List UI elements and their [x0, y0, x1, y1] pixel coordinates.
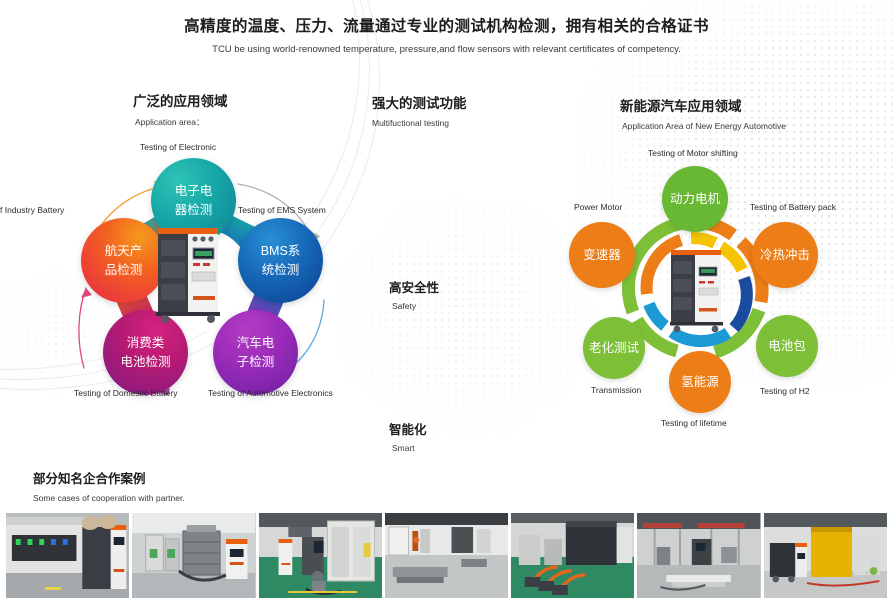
- case-photo-6[interactable]: [637, 513, 760, 598]
- feature-caption-smart-en: Smart: [392, 443, 427, 453]
- feature-caption-safety: 高安全性 Safety: [389, 277, 439, 311]
- bubble-battery-pack[interactable]: 电池包: [756, 315, 818, 377]
- application-area-flower-diagram: 电子电 器检测 航天产 品检测 BMS系 统检测 消费类 电池检测 汽车电 子检…: [78, 160, 328, 395]
- caption-testing-of-motor-shifting: Testing of Motor shifting: [648, 148, 738, 158]
- bubble-automotive-electronics-line2: 子检测: [237, 353, 275, 371]
- tcu-machine-photo-left: [154, 218, 226, 324]
- new-energy-automotive-ring-diagram: 动力电机 变速器 冷热冲击 老化测试 氢能源 电池包 Testing of Mo…: [565, 160, 885, 420]
- bubble-hydrogen-energy-label: 氢能源: [681, 373, 719, 391]
- bubble-automotive-electronics-line1: 汽车电: [237, 334, 275, 352]
- bubble-transmission-label: 变速器: [583, 246, 621, 264]
- feature-caption-safety-en: Safety: [392, 301, 439, 311]
- feature-caption-smart: 智能化 Smart: [389, 419, 427, 453]
- bubble-bms-line1: BMS系: [261, 242, 301, 260]
- bubble-bms-line2: 统检测: [262, 261, 300, 279]
- case-photo-7[interactable]: [764, 513, 887, 598]
- section-title-partner-cases: 部分知名企合作案例 Some cases of cooperation with…: [33, 468, 185, 503]
- caption-transmission: Transmission: [591, 385, 641, 395]
- bubble-battery-pack-label: 电池包: [768, 337, 806, 355]
- poster-root: 高精度的温度、压力、流量通过专业的测试机构检测，拥有相关的合格证书 TCU be…: [0, 0, 893, 602]
- caption-testing-of-battery-pack: Testing of Battery pack: [750, 202, 836, 212]
- section-title-new-energy-cn: 新能源汽车应用领域: [620, 95, 786, 115]
- section-title-partner-cases-en: Some cases of cooperation with partner.: [33, 493, 185, 503]
- partner-case-photo-strip: [6, 513, 887, 598]
- bubble-aerospace-line2: 品检测: [105, 261, 143, 279]
- case-photo-5[interactable]: [511, 513, 634, 598]
- case-photo-1[interactable]: [6, 513, 129, 598]
- bubble-bms[interactable]: BMS系 统检测: [238, 218, 323, 303]
- bubble-automotive-electronics[interactable]: 汽车电 子检测: [213, 310, 298, 395]
- section-title-new-energy-en: Application Area of New Energy Automotiv…: [622, 121, 786, 131]
- bubble-electronic-line1: 电子电: [175, 182, 213, 200]
- bubble-domestic-battery-line2: 电池检测: [120, 353, 170, 371]
- bubble-hydrogen-energy[interactable]: 氢能源: [669, 351, 731, 413]
- caption-testing-of-electronic: Testing of Electronic: [140, 142, 216, 152]
- caption-testing-of-h2: Testing of H2: [760, 386, 810, 396]
- bubble-electronic-line2: 器检测: [175, 201, 213, 219]
- caption-testing-of-domestic-battery: Testing of Domestic Battery: [74, 388, 177, 398]
- headline-english: TCU be using world-renowned temperature,…: [0, 43, 893, 57]
- case-photo-3[interactable]: [259, 513, 382, 598]
- bubble-aging-test[interactable]: 老化测试: [583, 317, 645, 379]
- bubble-aging-test-label: 老化测试: [589, 339, 639, 357]
- headline-chinese: 高精度的温度、压力、流量通过专业的测试机构检测，拥有相关的合格证书: [0, 16, 893, 38]
- section-title-multifunctional-en: Multifuctional testing: [372, 118, 467, 128]
- case-photo-4[interactable]: [385, 513, 508, 598]
- caption-power-motor: Power Motor: [574, 202, 622, 212]
- caption-testing-of-industry-battery: Testing of Industry Battery: [0, 205, 64, 215]
- section-title-application-area-en: Application area：: [135, 116, 228, 128]
- bubble-domestic-battery-line1: 消费类: [127, 334, 165, 352]
- feature-caption-safety-cn: 高安全性: [389, 277, 439, 296]
- section-title-new-energy: 新能源汽车应用领域 Application Area of New Energy…: [620, 95, 786, 131]
- bubble-transmission[interactable]: 变速器: [569, 222, 635, 288]
- bubble-thermal-shock-label: 冷热冲击: [760, 246, 810, 264]
- section-title-application-area: 广泛的应用领域 Application area：: [133, 90, 228, 128]
- bubble-thermal-shock[interactable]: 冷热冲击: [752, 222, 818, 288]
- section-title-application-area-cn: 广泛的应用领域: [133, 90, 228, 110]
- caption-testing-of-lifetime: Testing of lifetime: [661, 418, 727, 428]
- headline-block: 高精度的温度、压力、流量通过专业的测试机构检测，拥有相关的合格证书 TCU be…: [0, 16, 893, 57]
- case-photo-2[interactable]: [132, 513, 255, 598]
- bubble-aerospace-line1: 航天产: [105, 242, 143, 260]
- feature-caption-smart-cn: 智能化: [389, 419, 427, 438]
- caption-testing-of-automotive-electronics: Testing of Automotive Electronics: [208, 388, 333, 398]
- bubble-power-motor[interactable]: 动力电机: [662, 166, 728, 232]
- tcu-machine-photo-right: [668, 242, 726, 334]
- caption-testing-of-ems-system: Testing of EMS System: [238, 205, 326, 215]
- section-title-multifunctional: 强大的测试功能 Multifuctional testing: [372, 92, 467, 128]
- section-title-partner-cases-cn: 部分知名企合作案例: [33, 468, 185, 487]
- section-title-multifunctional-cn: 强大的测试功能: [372, 92, 467, 112]
- bubble-power-motor-label: 动力电机: [670, 190, 720, 208]
